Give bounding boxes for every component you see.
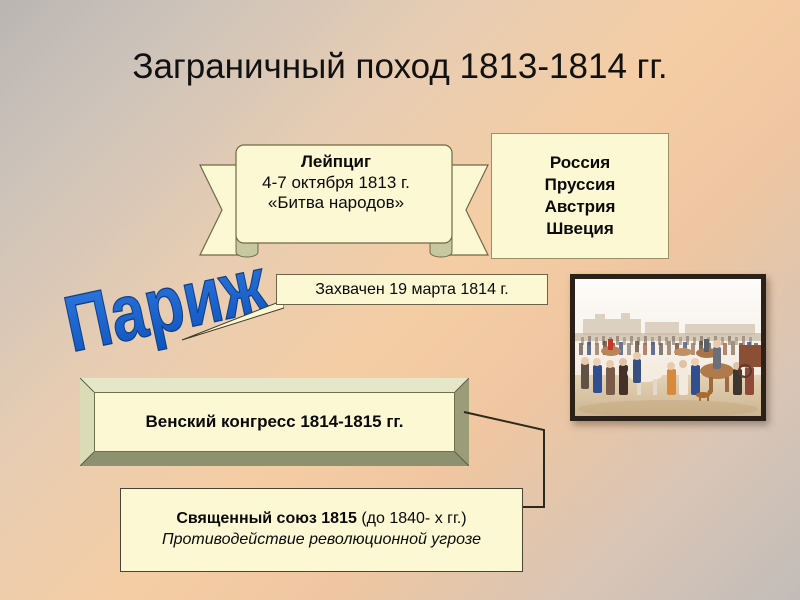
alliance-title-row: Священный союз 1815 (до 1840- х гг.): [176, 509, 466, 530]
presentation-slide: Заграничный поход 1813-1814 гг. Лейпциг …: [0, 0, 800, 600]
alliance-subtitle: Противодействие революционной угрозе: [162, 530, 481, 551]
callout-text: Захвачен 19 марта 1814 г.: [315, 281, 509, 299]
historical-painting-image: [570, 274, 766, 421]
callout-box: Захвачен 19 марта 1814 г.: [276, 274, 548, 305]
painting-artwork: [575, 279, 761, 416]
allies-item: Россия: [550, 152, 610, 174]
alliance-title-rest: (до 1840- х гг.): [357, 510, 467, 527]
vienna-label: Венский конгресс 1814-1815 гг.: [145, 412, 403, 432]
vienna-congress-box: Венский конгресс 1814-1815 гг.: [80, 378, 469, 466]
page-title: Заграничный поход 1813-1814 гг.: [0, 47, 800, 87]
ribbon-city-label: Лейпциг: [238, 152, 434, 173]
allies-item: Швеция: [546, 218, 614, 240]
holy-alliance-box: Священный союз 1815 (до 1840- х гг.) Про…: [120, 488, 523, 572]
ribbon-date-label: 4-7 октября 1813 г.: [238, 173, 434, 194]
ribbon-text-block: Лейпциг 4-7 октября 1813 г. «Битва народ…: [238, 152, 434, 214]
allies-item: Австрия: [545, 196, 616, 218]
ribbon-subtitle-label: «Битва народов»: [238, 193, 434, 214]
allies-coalition-box: Россия Пруссия Австрия Швеция: [491, 133, 669, 259]
paris-captured-callout: Захвачен 19 марта 1814 г.: [276, 274, 548, 346]
callout-tail: [180, 274, 284, 344]
alliance-title-bold: Священный союз 1815: [176, 510, 357, 527]
vienna-inner-panel: Венский конгресс 1814-1815 гг.: [94, 392, 455, 452]
allies-item: Пруссия: [545, 174, 616, 196]
leipzig-ribbon-banner: Лейпциг 4-7 октября 1813 г. «Битва народ…: [196, 140, 492, 260]
